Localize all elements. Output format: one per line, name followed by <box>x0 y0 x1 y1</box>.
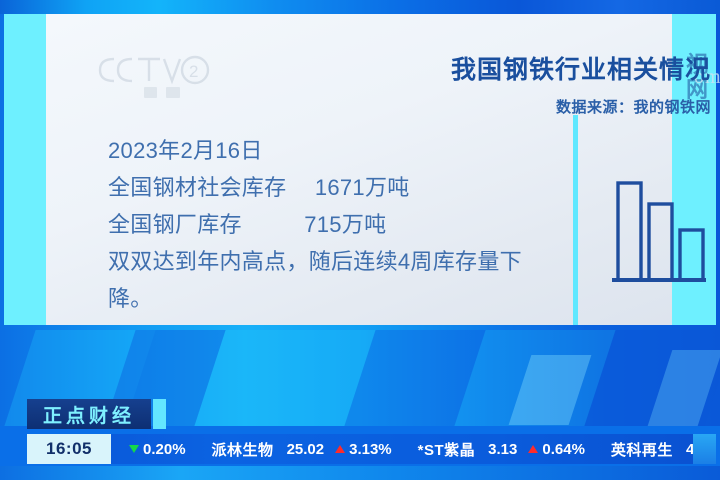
bottom-accent-bar <box>0 466 720 480</box>
content-panel: 2 视网 om 我国钢铁行业相关情况 数据来源：我的钢铁网 2023年2月16日… <box>46 14 672 325</box>
program-banner: 正点财经 <box>27 399 151 429</box>
svg-text:2: 2 <box>189 62 198 81</box>
ticker-lead-change: 0.20% <box>129 441 186 458</box>
stat-row: 全国钢材社会库存 1671万吨 <box>108 169 548 206</box>
cyan-band-left <box>4 14 46 325</box>
arrow-up-icon <box>528 445 538 453</box>
ticker-item[interactable]: 派林生物 25.02 3.13% <box>212 439 418 460</box>
ticker-item[interactable]: 英科再生 42 <box>611 439 693 460</box>
ticker-tail-cap <box>693 434 716 464</box>
ticker-item-name: *ST紫晶 <box>418 439 476 460</box>
body-text-block: 2023年2月16日 全国钢材社会库存 1671万吨 全国钢厂库存 715万吨 … <box>108 132 548 317</box>
bar-chart-icon <box>606 164 706 294</box>
ticker-item-change: 3.13% <box>335 441 392 458</box>
ticker-item-change-value: 0.64% <box>542 441 585 458</box>
stat-value: 1671万吨 <box>315 169 410 206</box>
ticker-item[interactable]: *ST紫晶 3.13 0.64% <box>418 439 611 460</box>
ticker-item-price: 42 <box>686 441 693 458</box>
stat-label: 全国钢厂库存 <box>108 206 242 243</box>
ticker-item-change: 0.64% <box>528 441 585 458</box>
broadcast-screen: 2 视网 om 我国钢铁行业相关情况 数据来源：我的钢铁网 2023年2月16日… <box>0 0 720 480</box>
ticker-item-name: 派林生物 <box>212 439 274 460</box>
program-banner-label: 正点财经 <box>43 401 135 428</box>
body-line-date: 2023年2月16日 <box>108 132 548 169</box>
arrow-down-icon <box>129 445 139 453</box>
body-note: 双双达到年内高点，随后连续4周库存量下降。 <box>108 243 548 317</box>
ticker-item-price: 25.02 <box>287 441 325 458</box>
ticker-item-price: 3.13 <box>488 441 517 458</box>
ticker-clock: 16:05 <box>27 434 111 464</box>
page-title: 我国钢铁行业相关情况 <box>406 50 711 86</box>
stock-ticker-bar[interactable]: 16:05 0.20% 派林生物 25.02 3.13% *ST紫晶 3.13 <box>27 434 693 464</box>
arrow-up-icon <box>335 445 345 453</box>
program-banner-accent <box>153 399 166 429</box>
stat-value: 715万吨 <box>304 206 386 243</box>
ticker-items: 0.20% 派林生物 25.02 3.13% *ST紫晶 3.13 0.64% <box>111 439 693 460</box>
ticker-item-name: 英科再生 <box>611 439 673 460</box>
ticker-lead-value: 0.20% <box>143 441 186 458</box>
top-accent-bar <box>0 0 720 14</box>
stat-row: 全国钢厂库存 715万吨 <box>108 206 548 243</box>
ticker-item-change-value: 3.13% <box>349 441 392 458</box>
stat-label: 全国钢材社会库存 <box>108 169 286 206</box>
cctv-logo-icon: 2 <box>92 49 212 101</box>
panel-divider <box>573 115 578 325</box>
data-source-label: 数据来源：我的钢铁网 <box>406 96 711 117</box>
